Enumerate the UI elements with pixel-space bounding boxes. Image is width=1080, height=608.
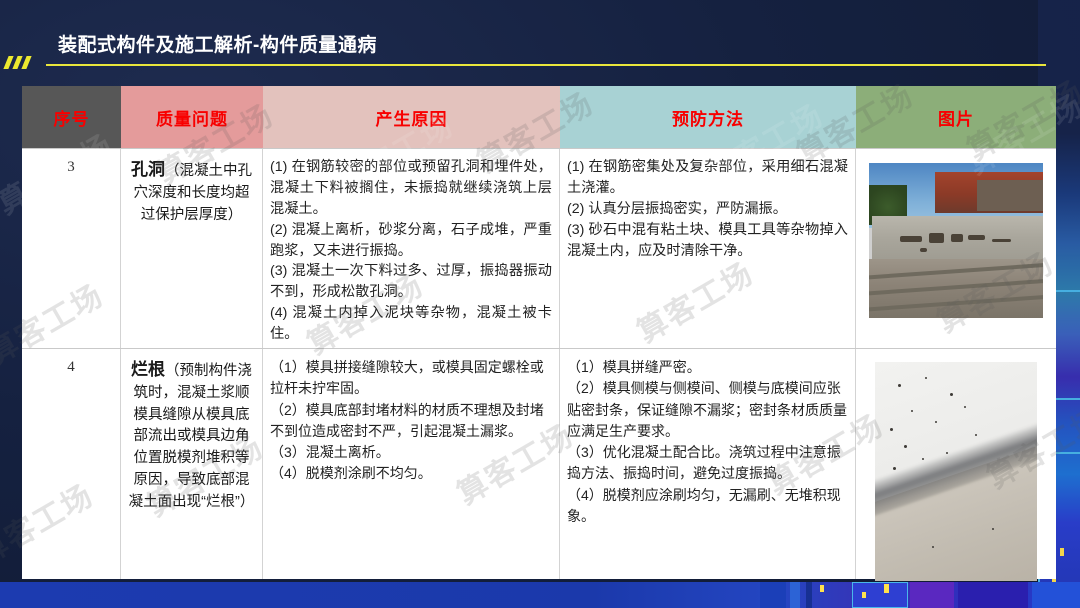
column-header-cause: 产生原因 bbox=[263, 86, 560, 148]
problem-desc: （预制构件浇筑时，混凝土浆顺模具缝隙从模具底部流出或模具边角位置脱模剂堆积等原因… bbox=[129, 363, 255, 510]
row-prevention-cell: （1）模具拼缝严密。 （2）模具侧模与侧模间、侧模与底模间应张贴密封条，保证缝隙… bbox=[560, 349, 856, 579]
row-number: 4 bbox=[29, 357, 113, 376]
row-no-cell: 4 bbox=[22, 349, 121, 579]
row-problem-cell: 孔洞（混凝土中孔穴深度和长度均超过保护层厚度） bbox=[121, 149, 263, 348]
prevention-text: （1）模具拼缝严密。 （2）模具侧模与侧模间、侧模与底模间应张贴密封条，保证缝隙… bbox=[567, 357, 848, 527]
row-prevention-cell: (1) 在钢筋密集处及复杂部位，采用细石混凝土浇灌。 (2) 认真分层振捣密实，… bbox=[560, 149, 856, 348]
table-row: 4 烂根（预制构件浇筑时，混凝土浆顺模具缝隙从模具底部流出或模具边角位置脱模剂堆… bbox=[22, 348, 1056, 579]
cause-text: (1) 在钢筋较密的部位或预留孔洞和埋件处，混凝土下料被搁住，未振捣就继续浇筑上… bbox=[270, 157, 552, 345]
row-cause-cell: （1）模具拼接缝隙较大，或模具固定螺栓或拉杆未拧牢固。 （2）模具底部封堵材料的… bbox=[263, 349, 560, 579]
row-image-cell bbox=[856, 149, 1056, 348]
row-no-cell: 3 bbox=[22, 149, 121, 348]
cause-text: （1）模具拼接缝隙较大，或模具固定螺栓或拉杆未拧牢固。 （2）模具底部封堵材料的… bbox=[270, 357, 552, 485]
row-image-cell bbox=[856, 349, 1056, 579]
defect-photo-hole bbox=[869, 163, 1043, 318]
column-header-no: 序号 bbox=[22, 86, 121, 148]
slide: 装配式构件及施工解析-构件质量通病 序号 质量问题 产生原因 预防方法 图片 3… bbox=[0, 0, 1080, 608]
problem-title: 烂根 bbox=[131, 360, 165, 379]
column-header-problem: 质量问题 bbox=[121, 86, 263, 148]
table-header-row: 序号 质量问题 产生原因 预防方法 图片 bbox=[22, 86, 1056, 148]
bottom-decorative-band bbox=[0, 582, 1080, 608]
problem-title: 孔洞 bbox=[131, 160, 165, 179]
quality-defects-table: 序号 质量问题 产生原因 预防方法 图片 3 孔洞（混凝土中孔穴深度和长度均超过… bbox=[22, 86, 1056, 579]
table-row: 3 孔洞（混凝土中孔穴深度和长度均超过保护层厚度） (1) 在钢筋较密的部位或预… bbox=[22, 148, 1056, 348]
column-header-prevention: 预防方法 bbox=[560, 86, 856, 148]
row-problem-cell: 烂根（预制构件浇筑时，混凝土浆顺模具缝隙从模具底部流出或模具边角位置脱模剂堆积等… bbox=[121, 349, 263, 579]
row-number: 3 bbox=[29, 157, 113, 176]
column-header-image: 图片 bbox=[856, 86, 1056, 148]
title-accent-bars-icon bbox=[6, 56, 46, 70]
page-title: 装配式构件及施工解析-构件质量通病 bbox=[58, 30, 377, 57]
row-cause-cell: (1) 在钢筋较密的部位或预留孔洞和埋件处，混凝土下料被搁住，未振捣就继续浇筑上… bbox=[263, 149, 560, 348]
defect-photo-root bbox=[875, 362, 1037, 581]
prevention-text: (1) 在钢筋密集处及复杂部位，采用细石混凝土浇灌。 (2) 认真分层振捣密实，… bbox=[567, 157, 848, 261]
title-underline bbox=[46, 64, 1046, 66]
slide-title-area: 装配式构件及施工解析-构件质量通病 bbox=[0, 14, 1080, 58]
